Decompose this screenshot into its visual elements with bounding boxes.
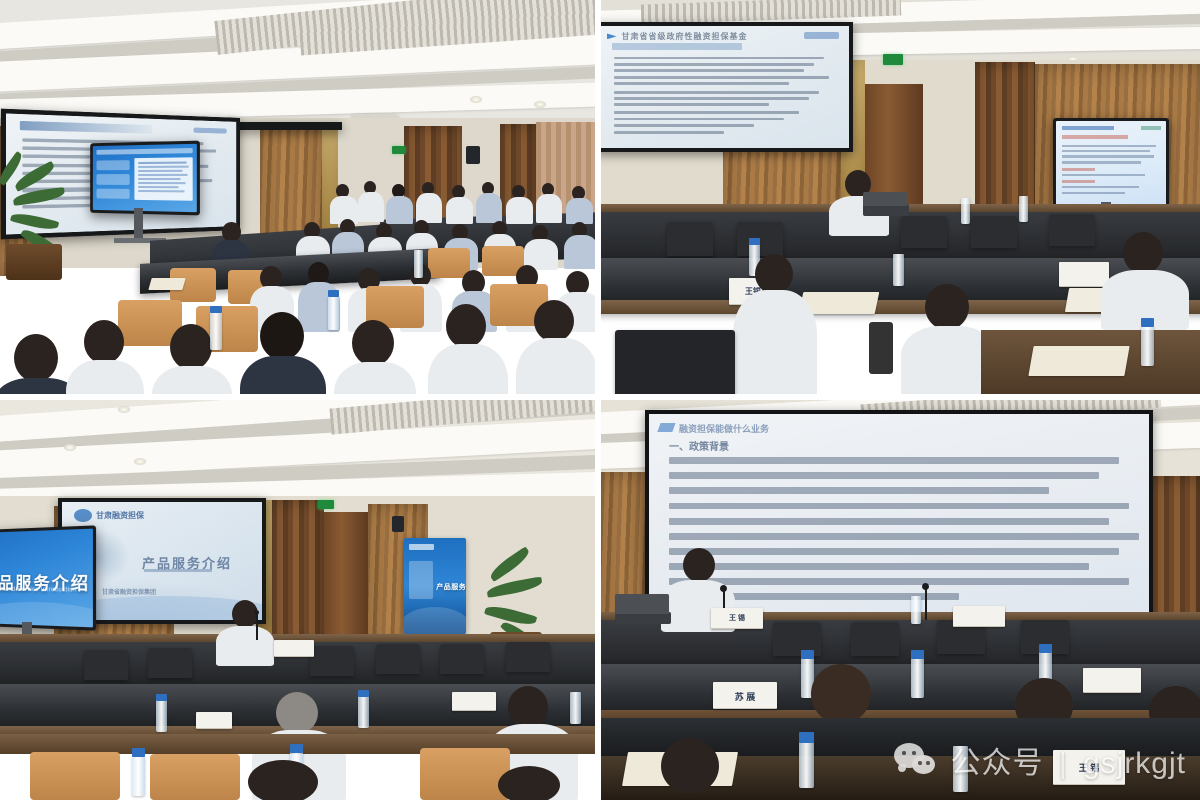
slide-subtitle-rule [144,569,212,572]
water-bottle [1019,196,1028,222]
nameplate-text: 苏 展 [713,690,777,703]
slide-section-heading: 一、政策背景 [669,438,729,453]
side-monitor-right [1053,118,1169,208]
laptop-lid [863,192,907,206]
bottle-cap [210,306,222,313]
attendee-head [276,692,318,734]
exit-sign-icon [883,54,903,65]
chair [667,222,713,256]
scene-qa-session: 融资担保能做什么业务 一、政策背景 [601,400,1200,800]
water-bottle [156,700,167,732]
water-bottle [1141,326,1154,366]
exit-sign-icon [392,146,405,154]
microphone-stem [925,588,927,620]
nameplate [196,712,232,729]
wood-column [272,500,324,648]
attendee-head [1123,232,1163,274]
water-bottle [132,756,145,796]
side-monitor-screen: 产品服务介绍 Product and Service Introduction [0,529,93,628]
slide-title-text: 融资担保能做什么业务 [679,422,769,435]
monitor-stand [134,208,143,240]
laptop-lid [615,594,669,614]
slide-title-band [19,121,152,133]
water-bottle [893,254,904,286]
water-bottle [570,692,581,724]
water-bottle [911,658,924,698]
monitor-list-item [97,174,130,184]
microphone-head [922,583,929,590]
water-bottle [210,312,222,350]
downlight [470,96,482,103]
monitor-subtitle-text: Product and Service Introduction [0,587,77,594]
chair [420,748,510,800]
scene-audience-wide [0,0,595,394]
chair [615,330,735,397]
bottle-cap [911,650,924,659]
downlight [534,101,546,108]
potted-plant [0,170,76,280]
downlight [134,458,146,465]
bottle-cap [156,694,167,701]
slide-highlight-band [612,43,742,50]
presenter-head [683,548,715,582]
panel-bottom-right[interactable]: 融资担保能做什么业务 一、政策背景 [598,397,1200,800]
front-speaker-head [222,222,241,242]
nameplate-text: 王 锡 [711,613,763,623]
audience-row-foreground [0,282,598,397]
notebook [1028,346,1129,376]
side-monitor-left [90,141,200,216]
chair [440,644,484,674]
attendee-head-foreground [661,738,719,794]
bottle-cap [358,690,369,697]
nameplate [452,692,496,711]
downlight [64,444,76,451]
chair [1049,214,1095,246]
banner-logo-icon [409,544,434,551]
presenter-body [216,626,274,666]
chair [971,216,1017,248]
attendee-head-foreground [498,766,560,800]
chair [310,646,354,676]
attendee-head [925,284,969,330]
attendee-head [755,254,793,294]
nameplate [953,606,1005,627]
bottle-cap [749,238,760,245]
slide-bullet-arrow [607,33,617,39]
chair [148,648,192,678]
nameplate-text: 王 锡 [1053,761,1125,774]
water-bottle [799,742,814,788]
slide-bullet-mark [657,423,675,432]
bottle-cap [290,744,303,753]
bottle-cap [799,732,814,743]
slide-footer-text: 甘肃省融资担保集团 [102,587,156,596]
projection-screen: 甘肃省省级政府性融资担保基金 [598,22,853,152]
slide-title-text: 甘肃省省级政府性融资担保基金 [622,31,748,42]
chair [150,754,240,800]
water-bottle [961,198,970,224]
banner-title-text: 产品服务介绍 [436,582,466,592]
nameplate [1059,262,1109,287]
room-door [324,512,368,648]
chair [506,642,550,672]
wall-speaker [392,516,404,532]
document [148,278,185,290]
water-bottle [328,296,339,330]
side-monitor-screen [93,144,197,212]
wall-speaker [466,146,480,164]
monitor-list-item [97,160,130,171]
bottle-cap [801,650,814,659]
attendee-head [508,686,548,728]
water-bottle [358,696,369,728]
nameplate: 苏 展 [713,682,777,709]
chair [737,222,783,256]
attendee-head [811,664,871,724]
bottle-cap [328,290,339,297]
scene-speaker-presentation: 甘肃省省级政府性融资担保基金 [601,0,1200,394]
panel-bottom-left[interactable]: 甘肃融资担保 产品服务介绍 甘肃省融资担保集团 产品服务介绍 Product a… [0,397,598,800]
scene-product-introduction: 甘肃融资担保 产品服务介绍 甘肃省融资担保集团 产品服务介绍 Product a… [0,400,595,800]
panel-top-left[interactable] [0,0,598,397]
chair [376,644,420,674]
monitor-list-item [97,188,130,199]
microphone-head [254,610,259,615]
banner-wave [404,607,466,634]
bottle-cap [1039,644,1052,653]
nameplate: 王 锡 [711,608,763,629]
photo-collage: 甘肃省省级政府性融资担保基金 [0,0,1200,800]
company-logo-icon [74,509,92,522]
bottle-cap [1141,318,1154,327]
projection-screen-surface: 甘肃省省级政府性融资担保基金 [599,26,849,148]
chair [84,650,128,680]
water-bottle [414,250,423,278]
nameplate [1083,668,1141,693]
banner-photo [409,561,433,599]
attendee-head-foreground [248,760,318,800]
microphone-stem [256,614,258,640]
exit-sign-icon [318,500,334,509]
roll-up-banner: 产品服务介绍 [404,538,466,634]
water-bottle [911,596,921,624]
side-monitor-screen [1056,121,1166,205]
slide-logo-text: 甘肃融资担保 [96,510,144,521]
chair [30,752,120,800]
downlight [118,406,130,413]
water-bottle [953,746,968,792]
panel-top-right[interactable]: 甘肃省省级政府性融资担保基金 [598,0,1200,397]
nameplate [274,640,314,657]
attendee-body [733,290,817,397]
side-monitor-title: 产品服务介绍 Product and Service Introduction [0,525,96,630]
nameplate: 王 锡 [1053,750,1125,785]
bottle-cap [132,748,145,757]
chair [901,216,947,248]
microphone-head [720,585,727,592]
chair [851,622,899,656]
thermos [869,322,893,374]
